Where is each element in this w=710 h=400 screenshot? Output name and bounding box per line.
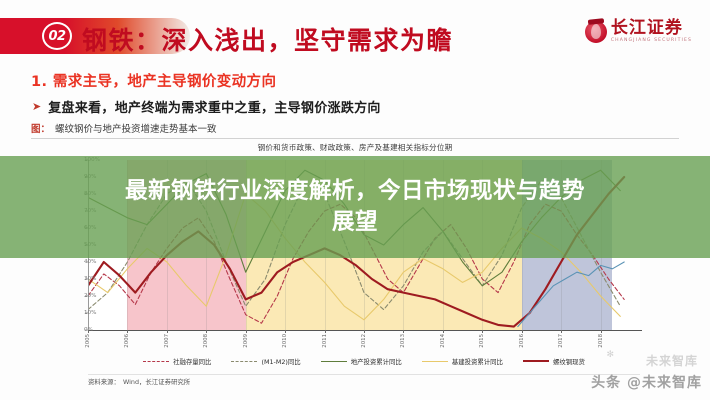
figure-label: 图： <box>31 121 50 135</box>
chart-y-tick-mark <box>85 262 88 263</box>
source-value: Wind，长江证券研究所 <box>123 377 190 386</box>
chart-x-tick-mark <box>285 330 286 333</box>
figure-caption-row: 图： 螺纹钢价与地产投资增速走势基本一致 <box>31 121 679 139</box>
chart-legend-item[interactable]: 基建投资累计同比 <box>422 357 503 366</box>
chart-x-tick-mark <box>88 330 89 333</box>
chart-legend-label: 基建投资累计同比 <box>452 357 503 366</box>
overlay-title-line-1: 最新钢铁行业深度解析，今日市场现状与趋势 <box>125 177 585 206</box>
chart-x-tick-label: 2005 <box>85 334 91 348</box>
chart-x-tick-label: 2007 <box>164 334 170 348</box>
chart-x-tick-label: 2015 <box>479 334 485 348</box>
logo-name-cn: 长江证券 <box>611 20 692 37</box>
chart-x-tick-label: 2008 <box>203 334 209 348</box>
chart-x-tick-label: 2013 <box>400 334 406 348</box>
chart-legend-item[interactable]: 地产投资累计同比 <box>321 357 402 366</box>
chart-x-tick-mark <box>601 330 602 333</box>
chart-x-tick-mark <box>246 330 247 333</box>
chart-legend-item[interactable]: 螺纹钢现货 <box>523 357 585 366</box>
chart-y-tick-mark <box>85 296 88 297</box>
changjiang-securities-logo-icon <box>585 21 607 43</box>
chart-x-tick-mark <box>482 330 483 333</box>
chart-legend-label: 社融存量同比 <box>173 357 211 366</box>
chart-x-tick-mark <box>127 330 128 333</box>
brand-logo: 长江证券 CHANGJIANG SECURITIES <box>585 20 692 44</box>
section-number: 02 <box>48 29 65 44</box>
bullet-row: ➤ 复盘来看，地产终端为需求重中之重，主导钢价涨跌方向 <box>32 97 381 116</box>
chart-x-tick-label: 2010 <box>282 334 288 348</box>
chart-legend-item[interactable]: (M1-M2)同比 <box>231 357 300 366</box>
section-heading: 1. 需求主导，地产主导钢价变动方向 <box>31 70 276 91</box>
chart-legend-label: 地产投资累计同比 <box>351 357 402 366</box>
chart-x-axis <box>88 330 642 331</box>
arrow-right-icon: ➤ <box>32 101 41 112</box>
overlay-title-banner: 最新钢铁行业深度解析，今日市场现状与趋势 展望 <box>0 156 710 258</box>
chart-legend-swatch <box>321 361 347 362</box>
chart-legend: 社融存量同比(M1-M2)同比地产投资累计同比基建投资累计同比螺纹钢现货 <box>88 354 640 368</box>
chart-x-tick-label: 2016 <box>519 334 525 348</box>
chart-x-tick-mark <box>443 330 444 333</box>
section-number-badge: 02 <box>42 22 72 50</box>
chart-x-tick-label: 2014 <box>440 334 446 348</box>
chart-y-tick-mark <box>85 279 88 280</box>
logo-text-block: 长江证券 CHANGJIANG SECURITIES <box>611 20 692 44</box>
figure-caption: 螺纹钢价与地产投资增速走势基本一致 <box>55 121 217 135</box>
chart-legend-label: 螺纹钢现货 <box>553 357 585 366</box>
watermark-sparkle-icon: ✻ <box>606 350 614 360</box>
overlay-title-line-2: 展望 <box>332 208 378 237</box>
chart-y-tick-mark <box>85 313 88 314</box>
chart-x-tick-label: 2012 <box>361 334 367 348</box>
watermark-ghost: 未来智库 <box>646 352 698 369</box>
chart-title: 钢价和货币政策、财政政策、房产及基建相关指标分位期 <box>0 142 710 153</box>
chart-x-tick-label: 2009 <box>243 334 249 348</box>
chart-x-tick-mark <box>167 330 168 333</box>
chart-x-tick-mark <box>206 330 207 333</box>
slide-page: 02 钢铁：深入浅出，坚守需求为瞻 长江证券 CHANGJIANG SECURI… <box>0 0 710 400</box>
logo-name-en: CHANGJIANG SECURITIES <box>611 39 692 44</box>
page-title: 钢铁：深入浅出，坚守需求为瞻 <box>82 21 453 57</box>
source-label: 资料来源： <box>88 377 120 386</box>
chart-x-tick-mark <box>403 330 404 333</box>
bullet-text: 复盘来看，地产终端为需求重中之重，主导钢价涨跌方向 <box>48 97 381 116</box>
chart-x-tick-mark <box>364 330 365 333</box>
chart-x-tick-label: 2006 <box>124 334 130 348</box>
chart-x-tick-mark <box>522 330 523 333</box>
chart-legend-label: (M1-M2)同比 <box>261 357 300 366</box>
chart-legend-swatch <box>523 360 549 362</box>
chart-x-tick-mark <box>325 330 326 333</box>
chart-legend-item[interactable]: 社融存量同比 <box>143 357 211 366</box>
chart-legend-swatch <box>231 361 257 362</box>
chart-x-tick-mark <box>561 330 562 333</box>
chart-x-tick-label: 2017 <box>558 334 564 348</box>
chart-legend-swatch <box>143 361 169 362</box>
source-row: 资料来源： Wind，长江证券研究所 <box>88 374 640 386</box>
chart-legend-swatch <box>422 361 448 362</box>
chart-x-tick-label: 2011 <box>322 334 328 348</box>
watermark-main: 头条 @未来智库 <box>591 372 702 392</box>
chart-x-tick-label: 2018 <box>598 334 604 348</box>
chart-series-line <box>518 262 624 327</box>
